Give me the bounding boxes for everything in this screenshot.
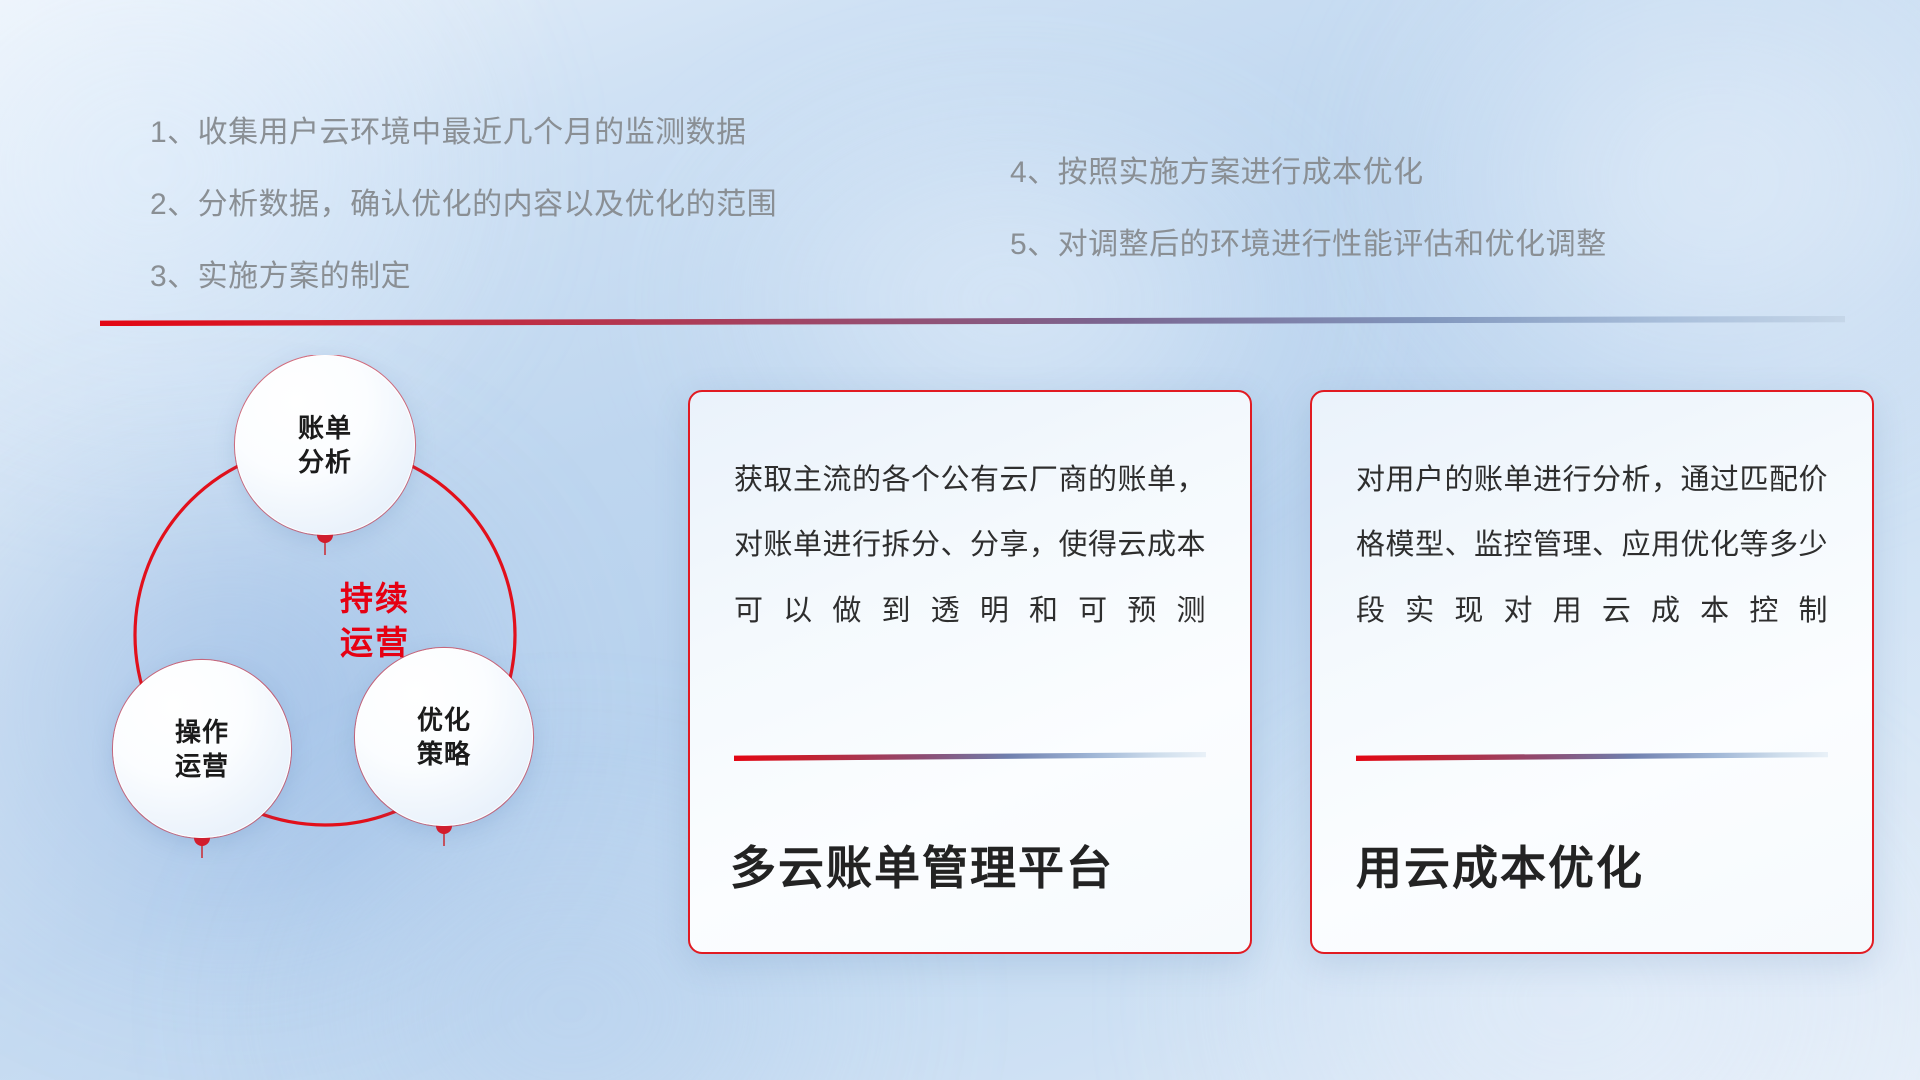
venn-label-line-2: 策略	[417, 737, 471, 771]
venn-label-line-2: 运营	[175, 749, 229, 783]
feature-card-multicloud-billing[interactable]: 获取主流的各个公有云厂商的账单，对账单进行拆分、分享，使得云成本可以做到透明和可…	[688, 390, 1252, 954]
venn-bubble-label: 操作 运营	[175, 715, 229, 784]
steps-section: 1、收集用户云环境中最近几个月的监测数据 2、分析数据，确认优化的内容以及优化的…	[0, 0, 1920, 300]
venn-center-line-1: 持续	[275, 577, 475, 621]
step-item-5: 5、对调整后的环境进行性能评估和优化调整	[1010, 230, 1607, 260]
venn-center-label: 持续 运营	[275, 577, 475, 664]
venn-bubble-label: 优化 策略	[417, 703, 471, 772]
card-title: 用云成本优化	[1356, 832, 1828, 898]
step-item-1: 1、收集用户云环境中最近几个月的监测数据	[150, 118, 777, 148]
card-description: 对用户的账单进行分析，通过匹配价格模型、监控管理、应用优化等多少段实现对用云成本…	[1356, 448, 1828, 644]
venn-center-line-2: 运营	[275, 621, 475, 665]
feature-card-cost-optimization[interactable]: 对用户的账单进行分析，通过匹配价格模型、监控管理、应用优化等多少段实现对用云成本…	[1310, 390, 1874, 954]
venn-label-line-2: 分析	[298, 445, 352, 479]
venn-bubble-billing-analysis[interactable]: 账单 分析	[235, 355, 415, 535]
venn-label-line-1: 账单	[298, 411, 352, 445]
venn-label-line-1: 优化	[417, 703, 471, 737]
card-description: 获取主流的各个公有云厂商的账单，对账单进行拆分、分享，使得云成本可以做到透明和可…	[734, 448, 1206, 644]
venn-bubble-operations[interactable]: 操作 运营	[113, 660, 291, 838]
venn-label-line-1: 操作	[175, 715, 229, 749]
step-item-2: 2、分析数据，确认优化的内容以及优化的范围	[150, 190, 777, 220]
venn-diagram: 账单 分析 操作 运营 优化 策略 持续 运营	[95, 355, 635, 955]
step-item-4: 4、按照实施方案进行成本优化	[1010, 158, 1607, 188]
steps-left-column: 1、收集用户云环境中最近几个月的监测数据 2、分析数据，确认优化的内容以及优化的…	[150, 118, 777, 292]
steps-right-column: 4、按照实施方案进行成本优化 5、对调整后的环境进行性能评估和优化调整	[1010, 158, 1607, 260]
venn-bubble-label: 账单 分析	[298, 411, 352, 480]
step-item-3: 3、实施方案的制定	[150, 262, 777, 292]
card-title: 多云账单管理平台	[730, 832, 1202, 898]
venn-bubble-optimization-strategy[interactable]: 优化 策略	[355, 648, 533, 826]
